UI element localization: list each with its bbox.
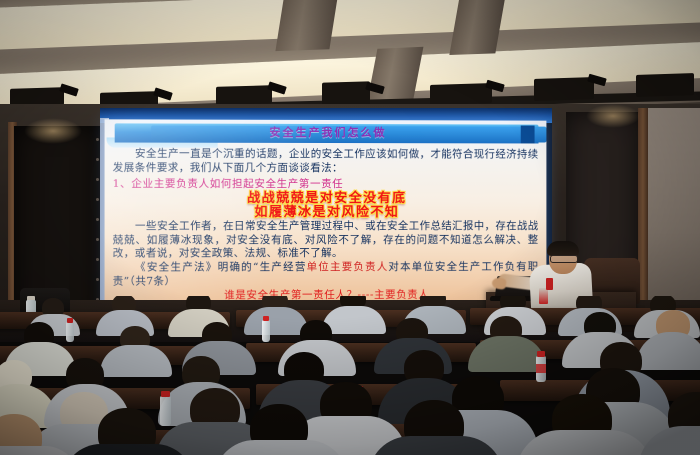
water-bottle-cap: [537, 351, 545, 357]
water-bottle-cap: [67, 318, 73, 323]
slide-art-line-2: 如履薄冰是对风险不知: [113, 206, 539, 220]
water-bottle: [262, 320, 270, 342]
lecture-hall-photo: 安全生产我们怎么做 安全生产一直是个沉重的话题，企业的安全工作应该如何做，才能符…: [0, 0, 700, 455]
water-bottle: [160, 396, 171, 426]
speaker-badge: [546, 278, 553, 290]
ceiling-spotlight-icon: [534, 77, 594, 101]
water-bottle-cap: [161, 391, 170, 397]
slide-paragraph-2: 一些安全工作者，在日常安全生产管理过程中、或在安全工作总结汇报中，存在战战兢兢、…: [113, 220, 539, 261]
wall-light-glow: [24, 118, 82, 144]
water-bottle: [66, 322, 74, 342]
ceiling-spotlight-icon: [322, 81, 370, 106]
glasses-icon: [550, 255, 578, 263]
wall-light-glow: [586, 104, 640, 128]
water-bottle-label: [536, 364, 546, 373]
slide-title-bar: 安全生产我们怎么做: [115, 123, 539, 143]
slide-paragraph-3-highlight: 单位主要负责人: [307, 261, 389, 273]
projected-slide: 安全生产我们怎么做 安全生产一直是个沉重的话题，企业的安全工作应该如何做，才能符…: [105, 119, 547, 314]
ceiling-spotlight-icon: [430, 83, 492, 105]
slide-paragraph-3-pre: 《安全生产法》明确的“生产经营: [135, 261, 307, 273]
slide-title: 安全生产我们怎么做: [115, 123, 539, 143]
water-bottle-cap: [263, 316, 269, 321]
audience: [0, 296, 700, 455]
ceiling-spotlight-icon: [636, 73, 694, 97]
speaker-hair: [547, 241, 579, 256]
slide-paragraph-1: 安全生产一直是个沉重的话题，企业的安全工作应该如何做，才能符合现行经济持续发展条…: [113, 148, 539, 176]
ceiling-spotlight-icon: [216, 85, 272, 105]
slide-paragraph-3: 《安全生产法》明确的“生产经营单位主要负责人对本单位安全生产工作负有职责”（共7…: [113, 261, 539, 289]
slide-body: 安全生产一直是个沉重的话题，企业的安全工作应该如何做，才能符合现行经济持续发展条…: [113, 148, 539, 303]
ceiling-beam: [275, 0, 338, 51]
